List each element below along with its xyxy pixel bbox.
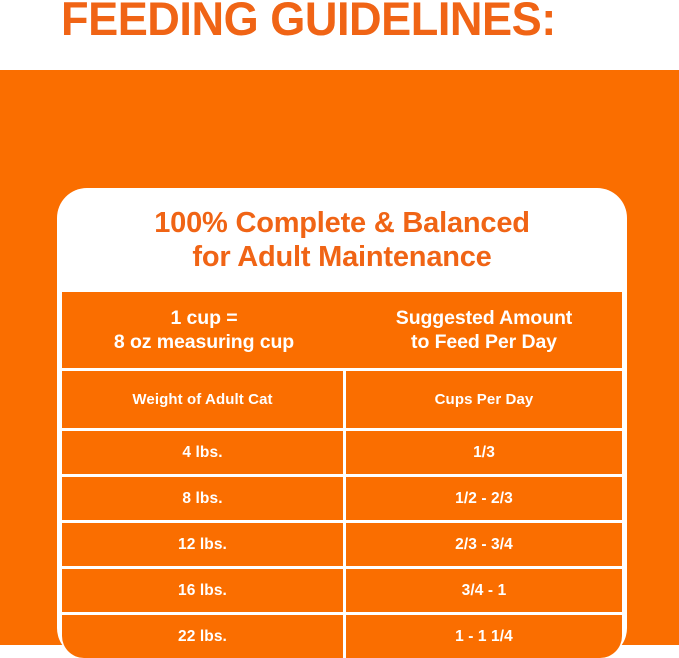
row-cups: 1 - 1 1/4 [346,612,622,658]
sub-header-cups: Cups Per Day [346,368,622,428]
main-header-cup-definition: 1 cup = 8 oz measuring cup [62,292,346,368]
card-heading: 100% Complete & Balanced for Adult Maint… [57,206,627,274]
main-header-amount-line2: to Feed Per Day [346,330,622,354]
table-sub-header-row: Weight of Adult Cat Cups Per Day [62,368,622,428]
row-weight: 8 lbs. [62,474,346,520]
main-header-cup-line1: 1 cup = [62,306,346,330]
table-row: 8 lbs. 1/2 - 2/3 [62,474,622,520]
feeding-guidelines-page: FEEDING GUIDELINES: 100% Complete & Bala… [0,0,679,645]
row-weight: 4 lbs. [62,428,346,474]
feeding-card: 100% Complete & Balanced for Adult Maint… [57,188,627,658]
page-title: FEEDING GUIDELINES: [61,0,556,42]
table-row: 12 lbs. 2/3 - 3/4 [62,520,622,566]
table-row: 16 lbs. 3/4 - 1 [62,566,622,612]
main-header-cup-line2: 8 oz measuring cup [62,330,346,354]
row-cups: 1/3 [346,428,622,474]
row-weight: 22 lbs. [62,612,346,658]
row-weight: 16 lbs. [62,566,346,612]
orange-background-panel: 100% Complete & Balanced for Adult Maint… [0,70,679,645]
main-header-suggested-amount: Suggested Amount to Feed Per Day [346,292,622,368]
row-cups: 2/3 - 3/4 [346,520,622,566]
card-heading-line2: for Adult Maintenance [57,240,627,274]
sub-header-weight: Weight of Adult Cat [62,368,346,428]
row-cups: 1/2 - 2/3 [346,474,622,520]
table-main-header-row: 1 cup = 8 oz measuring cup Suggested Amo… [62,292,622,368]
main-header-amount-line1: Suggested Amount [346,306,622,330]
feeding-table: 1 cup = 8 oz measuring cup Suggested Amo… [62,292,622,658]
table-row: 22 lbs. 1 - 1 1/4 [62,612,622,658]
row-weight: 12 lbs. [62,520,346,566]
row-cups: 3/4 - 1 [346,566,622,612]
card-heading-line1: 100% Complete & Balanced [154,207,530,239]
table-row: 4 lbs. 1/3 [62,428,622,474]
title-band: FEEDING GUIDELINES: [0,0,679,70]
